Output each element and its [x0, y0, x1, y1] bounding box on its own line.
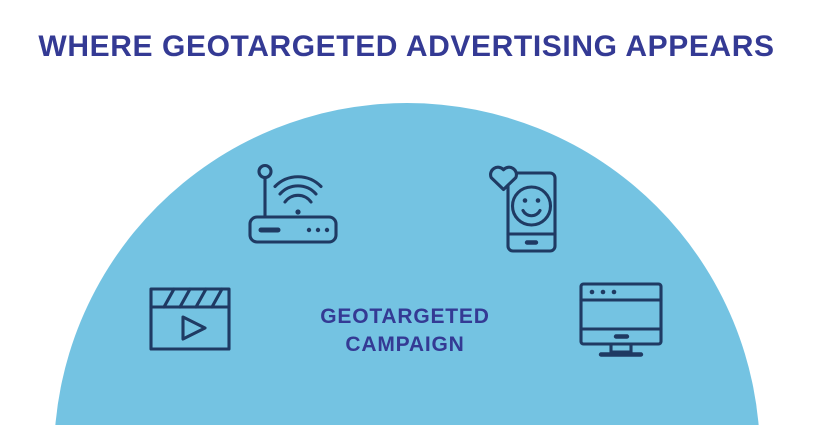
- router-led-1: [307, 228, 311, 232]
- smiley-face-outline: [513, 187, 551, 225]
- wifi-arc-medium: [280, 186, 316, 194]
- wifi-router-glyph: [247, 163, 339, 245]
- clapper-stripe-4: [212, 289, 222, 307]
- clapper-stripe-2: [180, 289, 190, 307]
- browser-dot-2: [601, 290, 606, 295]
- clapper-stripe-3: [196, 289, 206, 307]
- router-antenna-tip: [259, 166, 271, 178]
- campaign-label: GEOTARGETED CAMPAIGN: [255, 303, 555, 360]
- mobile-phone-social-icon: [488, 165, 558, 253]
- wifi-router-icon: [247, 163, 339, 245]
- campaign-label-line1: GEOTARGETED: [255, 303, 555, 331]
- router-led-3: [325, 228, 329, 232]
- monitor-glyph: [578, 281, 664, 360]
- play-triangle: [183, 317, 205, 339]
- infographic-canvas: WHERE GEOTARGETED ADVERTISING APPEARS GE…: [0, 0, 813, 425]
- clapper-body: [151, 307, 229, 349]
- heart-shape: [491, 167, 517, 189]
- page-title: WHERE GEOTARGETED ADVERTISING APPEARS: [0, 30, 813, 63]
- clapperboard-glyph: [148, 286, 232, 352]
- wifi-arc-small: [285, 195, 311, 202]
- smiley-eye-left: [523, 198, 528, 203]
- clapper-stripe-1: [164, 289, 174, 307]
- campaign-label-line2: CAMPAIGN: [255, 331, 555, 359]
- smiley-mouth: [523, 211, 540, 216]
- browser-dot-1: [590, 290, 595, 295]
- video-clapperboard-icon: [148, 286, 232, 352]
- dome-background: [54, 103, 760, 425]
- router-led-2: [316, 228, 320, 232]
- smiley-eye-right: [536, 198, 541, 203]
- mobile-phone-glyph: [488, 165, 558, 253]
- desktop-monitor-icon: [578, 281, 664, 360]
- browser-dot-3: [612, 290, 617, 295]
- wifi-source-dot: [295, 209, 300, 214]
